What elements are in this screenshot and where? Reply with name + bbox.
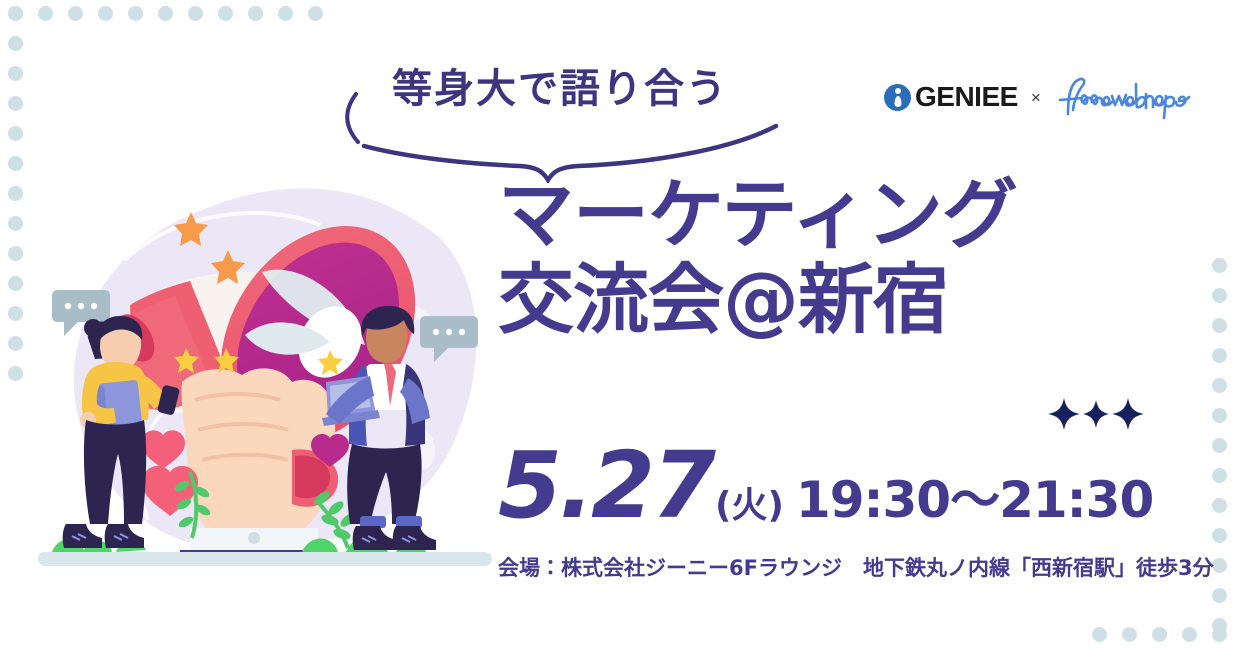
dot-column-left [8, 6, 23, 396]
decorative-dot [278, 6, 293, 21]
decorative-dot [218, 6, 233, 21]
freewebhope-logo[interactable] [1054, 74, 1194, 120]
event-day-of-week: (火) [715, 488, 784, 524]
event-title: マーケティング 交流会@新宿 [498, 172, 1198, 342]
decorative-dot [1212, 558, 1227, 573]
event-venue: 会場：株式会社ジーニー6Fラウンジ 地下鉄丸ノ内線「西新宿駅」徒歩3分 [498, 552, 1214, 582]
geniee-wordmark: GENIEE [915, 83, 1018, 111]
logo-lockup: GENIEE × [884, 74, 1194, 120]
dot-column-right [1212, 258, 1227, 648]
decorative-dot [1212, 468, 1227, 483]
decorative-dot [8, 186, 23, 201]
event-time: 19:30〜21:30 [796, 475, 1153, 525]
decorative-dot [1212, 408, 1227, 423]
event-date: 5.27 [498, 440, 713, 532]
decorative-dot [1212, 627, 1227, 642]
event-date-row: 5.27 (火) 19:30〜21:30 [498, 440, 1153, 532]
decorative-dot [1122, 627, 1137, 642]
decorative-dot [1212, 528, 1227, 543]
sparkle-decoration [1046, 396, 1146, 432]
decorative-dot [128, 6, 143, 21]
decorative-dot [8, 246, 23, 261]
geniee-logo[interactable]: GENIEE [884, 83, 1018, 111]
decorative-dot [248, 6, 263, 21]
decorative-dot [1212, 438, 1227, 453]
decorative-dot [68, 6, 83, 21]
decorative-dot [98, 6, 113, 21]
decorative-dot [1152, 627, 1167, 642]
title-line-1: マーケティング [498, 170, 1017, 259]
decorative-dot [38, 6, 53, 21]
decorative-dot [8, 96, 23, 111]
decorative-dot [8, 276, 23, 291]
decorative-dot [1212, 498, 1227, 513]
decorative-dot [8, 6, 23, 21]
decorative-dot [8, 126, 23, 141]
decorative-dot [8, 216, 23, 231]
title-line-2: 交流会@新宿 [498, 257, 1198, 342]
decorative-dot [8, 306, 23, 321]
geniee-genie-mark-icon [884, 84, 911, 111]
decorative-dot [1212, 588, 1227, 603]
decorative-dot [1092, 627, 1107, 642]
decorative-dot [8, 366, 23, 381]
decorative-dot [1182, 627, 1197, 642]
decorative-dot [8, 156, 23, 171]
decorative-dot [8, 36, 23, 51]
megaphone-people-illustration [30, 120, 500, 590]
decorative-dot [1212, 318, 1227, 333]
dot-row-top-left [8, 6, 338, 21]
decorative-dot [1212, 348, 1227, 363]
decorative-dot [1212, 258, 1227, 273]
catchcopy-bubble: 等身大で語り合う [320, 48, 800, 183]
decorative-dot [188, 6, 203, 21]
decorative-dot [158, 6, 173, 21]
decorative-dot [1212, 378, 1227, 393]
decorative-dot [8, 66, 23, 81]
event-banner: 等身大で語り合う GENIEE × [0, 0, 1235, 650]
decorative-dot [1212, 288, 1227, 303]
decorative-dot [308, 6, 323, 21]
catchcopy-text: 等身大で語り合う [320, 56, 800, 114]
decorative-dot [8, 336, 23, 351]
logo-separator: × [1031, 89, 1041, 106]
dot-row-bottom-right [1092, 627, 1235, 642]
